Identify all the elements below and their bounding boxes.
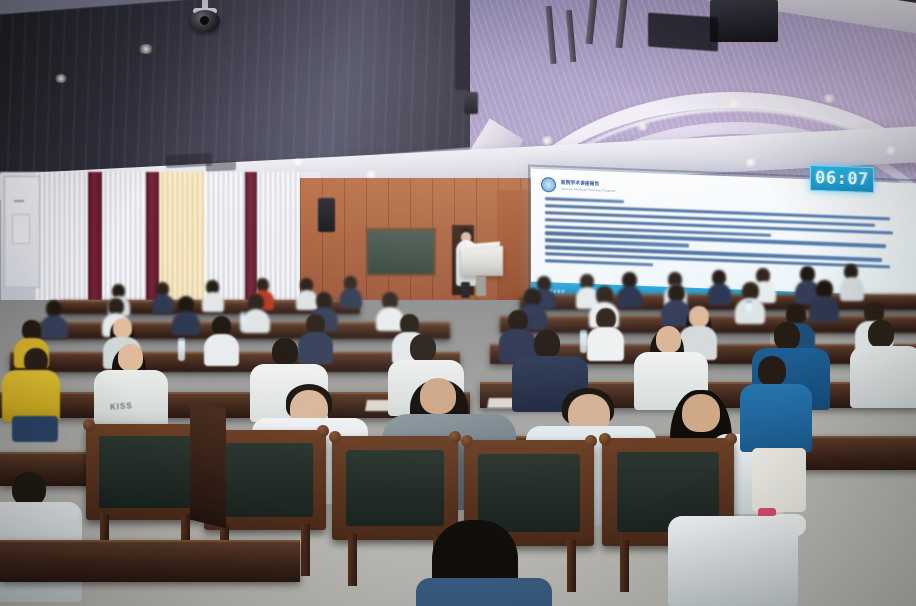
ceiling-vent-2 [206, 161, 236, 172]
water-bottle [580, 330, 587, 353]
water-bottle [178, 338, 185, 361]
downlight-10 [744, 158, 757, 167]
slide-text-line [545, 197, 624, 203]
chair [332, 436, 458, 540]
lecture-hall-photo: 医院学术讲座报告 Clinical Medical Training Progr… [0, 0, 916, 606]
hospital-emblem-icon [541, 177, 556, 193]
water-bottle [746, 300, 752, 320]
downlight-6 [540, 136, 554, 145]
lectern [461, 246, 503, 276]
ceiling [0, 0, 916, 200]
lectern-base [476, 276, 486, 296]
water-bottle [240, 312, 246, 332]
desk-row-front [0, 540, 300, 582]
hoodie-text: KISS [110, 401, 133, 412]
slide-subtitle: Clinical Medical Training Program [561, 186, 616, 192]
whiteboard-notice [12, 214, 30, 244]
whiteboard-marking [14, 200, 24, 202]
downlight-7 [726, 98, 741, 108]
clock-overlay: 06:07 [810, 165, 874, 193]
downlight-1 [138, 44, 154, 54]
wall-speaker [318, 198, 335, 232]
desk-end-panel [190, 400, 226, 529]
downlight-11 [884, 146, 897, 155]
clock-time: 06:07 [815, 168, 869, 190]
wall-chalkboard [366, 228, 436, 276]
ceiling-recess-dark [648, 13, 718, 52]
downlight-9 [636, 122, 649, 131]
ceiling-mount-bracket [464, 92, 478, 114]
downlight-4 [292, 158, 304, 166]
downlight-8 [822, 94, 836, 103]
ceiling-projector-unit [710, 0, 778, 42]
downlight-2 [54, 74, 68, 83]
chair [86, 424, 204, 520]
slide-text-line [545, 259, 653, 266]
